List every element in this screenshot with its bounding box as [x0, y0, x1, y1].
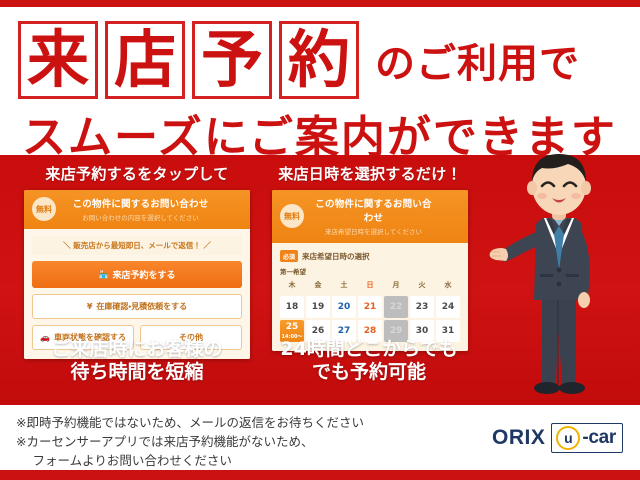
orix-ucar-logo: ORIX u -car: [492, 423, 623, 453]
app-mockup-contact-form: 無料 この物件に関するお問い合わせ お問い合わせの内容を選択してください ＼ 販…: [24, 190, 250, 359]
banner-root: 来 店 予 約 のご利用で スムーズにご案内ができます 来店予約するをタップして…: [0, 0, 640, 480]
mockup-header: 無料 この物件に関するお問い合わせ お問い合わせの内容を選択してください: [24, 190, 250, 229]
calendar-mockup-header: 無料 この物件に関するお問い合わせ 来店希望日時を選択してください: [272, 190, 468, 243]
calendar-dow-土: 土: [332, 280, 356, 292]
headline-block: 来 店 予 約 のご利用で スムーズにご案内ができます: [0, 9, 640, 155]
ucar-car-text: -car: [582, 427, 616, 449]
calendar-dow-月: 月: [384, 280, 408, 292]
orix-wordmark: ORIX: [492, 426, 545, 450]
calendar-dow-日: 日: [358, 280, 382, 292]
bottom-rule: [0, 470, 640, 480]
left-column-heading: 来店予約するをタップして: [24, 163, 250, 184]
calendar-day-20[interactable]: 20: [332, 296, 356, 318]
calendar-day-number: 19: [312, 302, 325, 312]
calendar-day-24[interactable]: 24: [436, 296, 460, 318]
calendar-day-number: 20: [338, 302, 351, 312]
ucar-badge: u -car: [551, 423, 623, 453]
calendar-day-number: 22: [390, 302, 403, 312]
left-feature-column: 来店予約するをタップして 無料 この物件に関するお問い合わせ お問い合わせの内容…: [24, 163, 250, 359]
mock-button-stock-quote[interactable]: ¥ 在庫確認・見積依頼をする: [32, 294, 242, 319]
calendar-dow-水: 水: [436, 280, 460, 292]
calendar-day-number: 28: [364, 326, 377, 336]
calendar-day-22: 22: [384, 296, 408, 318]
calendar-day-number: 26: [312, 326, 325, 336]
right-benefit-line1: 24時間どこからでも: [258, 338, 480, 361]
calendar-day-number: 29: [390, 326, 403, 336]
calendar-dow-金: 金: [306, 280, 330, 292]
mock-button-stock-quote-label: 在庫確認・見積依頼をする: [96, 301, 187, 312]
calendar-day-18[interactable]: 18: [280, 296, 304, 318]
headline-kanji-3: 予: [192, 21, 272, 99]
mockup-header-subtitle: お問い合わせの内容を選択してください: [63, 212, 218, 222]
headline-kanji-2: 店: [105, 21, 185, 99]
right-column-heading: 来店日時を選択するだけ！: [272, 163, 468, 184]
calendar-mockup-header-title: この物件に関するお問い合わせ: [311, 196, 436, 224]
mock-button-reserve-visit-label: 来店予約をする: [112, 268, 175, 281]
calendar-mockup-header-text: この物件に関するお問い合わせ 来店希望日時を選択してください: [311, 196, 460, 236]
left-benefit-line2: 待ち時間を短縮: [14, 361, 260, 384]
right-benefit-text: 24時間どこからでも でも予約可能: [258, 338, 480, 384]
calendar-day-number: 23: [416, 302, 429, 312]
footer-note-3: フォームよりお問い合わせください: [16, 451, 364, 470]
calendar-day-number: 18: [286, 302, 299, 312]
required-badge: 必須: [280, 250, 298, 262]
right-feature-column: 来店日時を選択するだけ！ 無料 この物件に関するお問い合わせ 来店希望日時を選択…: [272, 163, 468, 351]
calendar-day-number: 27: [338, 326, 351, 336]
calendar-day-21[interactable]: 21: [358, 296, 382, 318]
calendar-day-number: 30: [416, 326, 429, 336]
mock-button-reserve-visit[interactable]: 🏪 来店予約をする: [32, 261, 242, 288]
calendar-sub-label: 第一希望: [280, 266, 460, 276]
headline-tail: のご利用で: [375, 31, 580, 89]
ucar-u-icon: u: [556, 426, 580, 450]
calendar-day-23[interactable]: 23: [410, 296, 434, 318]
calendar-section-label: 来店希望日時の選択: [302, 251, 370, 262]
calendar-dow-row: 木金土日月火水: [280, 280, 460, 292]
app-mockup-calendar: 無料 この物件に関するお問い合わせ 来店希望日時を選択してください 必須 来店希…: [272, 190, 468, 351]
footer-notes: ※即時予約機能ではないため、メールの返信をお待ちください ※カーセンサーアプリで…: [16, 413, 364, 470]
calendar-day-number: 24: [442, 302, 455, 312]
headline-kanji-4: 約: [279, 21, 359, 99]
free-badge: 無料: [32, 197, 56, 221]
left-benefit-text: ご来店時にお客様の 待ち時間を短縮: [14, 338, 260, 384]
left-benefit-line1: ご来店時にお客様の: [14, 338, 260, 361]
yen-icon: ¥: [87, 303, 93, 311]
right-benefit-line2: でも予約可能: [258, 361, 480, 384]
calendar-dow-火: 火: [410, 280, 434, 292]
calendar-day-number: 25: [286, 322, 299, 332]
mockup-header-title: この物件に関するお問い合わせ: [63, 196, 218, 210]
calendar-section-label-row: 必須 来店希望日時の選択: [280, 250, 460, 262]
calendar-mockup-header-subtitle: 来店希望日時を選択してください: [311, 226, 436, 236]
businessman-illustration: [484, 148, 634, 410]
top-rule: [0, 0, 640, 7]
mockup-header-text: この物件に関するお問い合わせ お問い合わせの内容を選択してください: [63, 196, 242, 222]
calendar-day-number: 21: [364, 302, 377, 312]
free-badge: 無料: [280, 204, 304, 228]
promo-note: ＼ 販売店から最短即日、メールで返信！ ／: [32, 236, 242, 255]
headline-kanji-1: 来: [18, 21, 98, 99]
calendar-day-number: 31: [442, 326, 455, 336]
footer-note-1: ※即時予約機能ではないため、メールの返信をお待ちください: [16, 413, 364, 432]
footer-note-2: ※カーセンサーアプリでは来店予約機能がないため、: [16, 432, 364, 451]
calendar-day-19[interactable]: 19: [306, 296, 330, 318]
calendar-body: 必須 来店希望日時の選択 第一希望 木金土日月火水 18192021222324…: [272, 243, 468, 351]
calendar-dow-木: 木: [280, 280, 304, 292]
calendar-day-grid[interactable]: 181920212223242514:00〜262728293031: [280, 296, 460, 342]
store-icon: 🏪: [99, 271, 109, 279]
headline-line1: 来 店 予 約 のご利用で: [18, 21, 580, 99]
